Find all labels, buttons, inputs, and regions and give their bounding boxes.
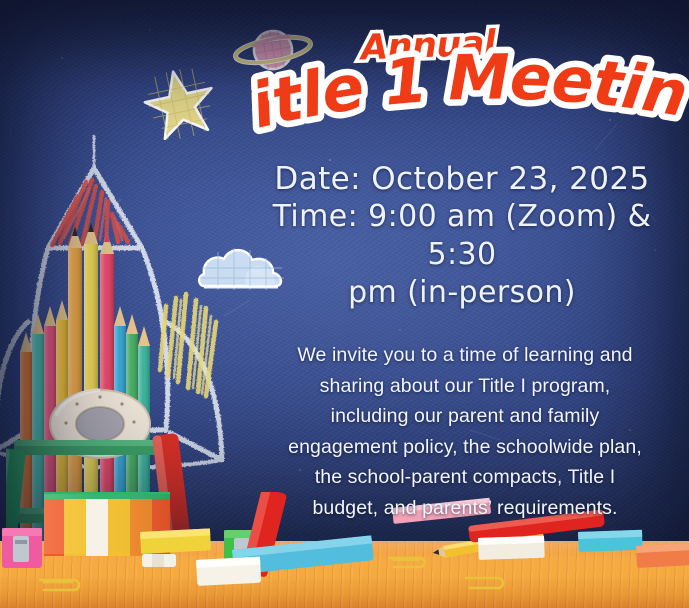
- title-main-label: Title 1 Meeting: [214, 0, 689, 143]
- flyer-title: Annual Title 1 Meeting: [250, 14, 689, 154]
- event-time-line-2: pm (in-person): [236, 274, 688, 312]
- paragraph-line-6: budget, and parents’ requirements.: [244, 493, 686, 524]
- paragraph-line-4: engagement policy, the schoolwide plan,: [244, 432, 686, 463]
- event-date-line: Date: October 23, 2025: [236, 160, 688, 198]
- title-1-meeting-flyer: Annual Title 1 Meeting Date: October 23,…: [0, 0, 689, 608]
- paragraph-line-5: the school-parent compacts, Title I: [244, 462, 686, 493]
- invitation-paragraph: We invite you to a time of learning and …: [244, 340, 686, 523]
- title-main-text: Title 1 Meeting: [214, 0, 689, 143]
- title-main-wrap: Title 1 Meeting: [236, 54, 689, 150]
- paragraph-line-3: including our parent and family: [244, 401, 686, 432]
- event-details: Date: October 23, 2025 Time: 9:00 am (Zo…: [236, 160, 688, 312]
- event-time-line-1: Time: 9:00 am (Zoom) & 5:30: [236, 198, 688, 274]
- paragraph-line-1: We invite you to a time of learning and: [244, 340, 686, 371]
- paragraph-line-2: sharing about our Title I program,: [244, 371, 686, 402]
